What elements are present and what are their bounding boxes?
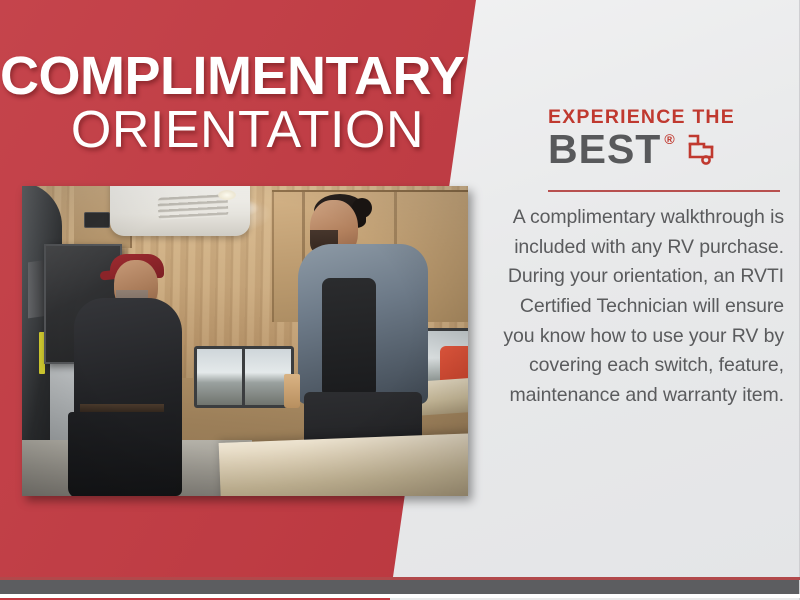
- experience-the-best-logo: EXPERIENCE THE BEST ®: [548, 108, 780, 172]
- orientation-photo: [22, 186, 468, 496]
- logo-tagline: EXPERIENCE THE: [548, 108, 780, 128]
- logo-wordmark-row: BEST ®: [548, 129, 780, 172]
- body-copy: A complimentary walkthrough is included …: [500, 203, 784, 410]
- slide-panel: COMPLIMENTARY ORIENTATION: [0, 0, 800, 577]
- slide-root: COMPLIMENTARY ORIENTATION: [0, 0, 800, 600]
- footer-gray-bar: [0, 580, 800, 594]
- page-title: COMPLIMENTARY ORIENTATION: [0, 50, 430, 156]
- registered-trademark-icon: ®: [664, 132, 674, 146]
- photo-vignette: [22, 186, 468, 496]
- logo-underline: [548, 190, 780, 192]
- rv-interior-scene: [22, 186, 468, 496]
- rv-outline-icon: [683, 133, 717, 172]
- headline-line-1: COMPLIMENTARY: [0, 50, 430, 103]
- logo-wordmark: BEST: [548, 129, 661, 170]
- headline-line-2: ORIENTATION: [0, 105, 430, 156]
